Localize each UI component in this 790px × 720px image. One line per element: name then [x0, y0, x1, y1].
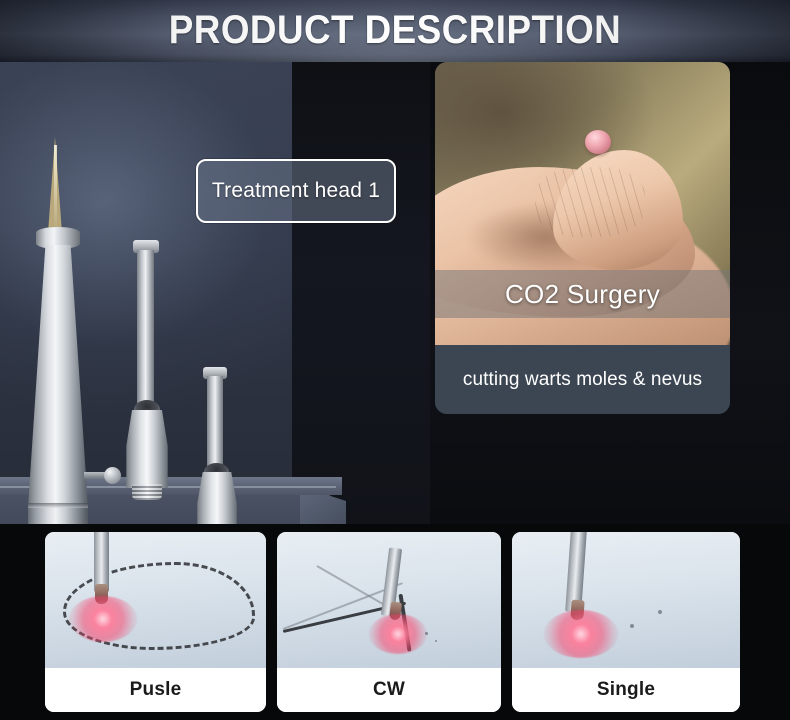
treatment-head-callout: Treatment head 1 [196, 159, 396, 223]
handpiece-knob [84, 467, 124, 483]
tip-arm [207, 376, 223, 474]
laser-mode-gallery: Pusle CW [0, 524, 790, 720]
mode-label-bar-single: Single [512, 668, 740, 712]
co2-overlay-band: CO2 Surgery [435, 270, 730, 318]
mode-card-single[interactable]: Single [512, 532, 740, 712]
laser-spot-glow [69, 596, 137, 642]
mode-label-text: Single [597, 679, 655, 701]
tip-arm [137, 250, 154, 413]
tip-thread [132, 484, 162, 500]
treatment-head-callout-label: Treatment head 1 [212, 179, 380, 203]
tip-body [196, 472, 238, 524]
product-description-page: PRODUCT DESCRIPTION f = 100mm [0, 0, 790, 720]
mode-label-text: CW [373, 679, 405, 701]
laser-probe [94, 532, 109, 592]
co2-surgery-card: CO2 Surgery cutting warts moles & nevus [435, 62, 730, 414]
laser-spot-glow [544, 610, 618, 658]
scene-backdrop-middle [292, 62, 430, 524]
header-banner: PRODUCT DESCRIPTION [0, 0, 790, 62]
page-title: PRODUCT DESCRIPTION [32, 5, 759, 55]
laser-spot-glow [369, 614, 427, 654]
mode-label-text: Pusle [130, 679, 182, 701]
handpiece-knob-ball [104, 467, 121, 484]
mode-label-bar-cw: CW [277, 668, 501, 712]
debris-speck-2 [658, 610, 662, 614]
mode-card-cw[interactable]: CW [277, 532, 501, 712]
mode-card-pulse[interactable]: Pusle [45, 532, 266, 712]
co2-overlay-title: CO2 Surgery [505, 279, 660, 310]
handpiece-tip-highlight [54, 145, 57, 229]
co2-caption-bar: cutting warts moles & nevus [435, 345, 730, 414]
scanner-tip-large [125, 240, 173, 500]
co2-laser-handpiece: f = 100mm [18, 137, 104, 524]
product-scene: f = 100mm Treatment head 1 [0, 62, 790, 524]
mode-photo-single [512, 532, 740, 668]
scanner-tip-small [196, 367, 240, 524]
wart-lesion [585, 130, 611, 154]
tip-body [125, 410, 169, 488]
mode-photo-cw [277, 532, 501, 668]
mode-photo-pulse [45, 532, 266, 668]
debris-speck [425, 632, 428, 635]
mode-label-bar-pulse: Pusle [45, 668, 266, 712]
debris-speck-2 [435, 640, 437, 642]
finger-hair-texture [535, 167, 645, 237]
handpiece-cone-body [28, 245, 88, 507]
debris-speck [630, 624, 634, 628]
handpiece-ring [28, 503, 88, 508]
co2-caption-text: cutting warts moles & nevus [463, 369, 702, 391]
